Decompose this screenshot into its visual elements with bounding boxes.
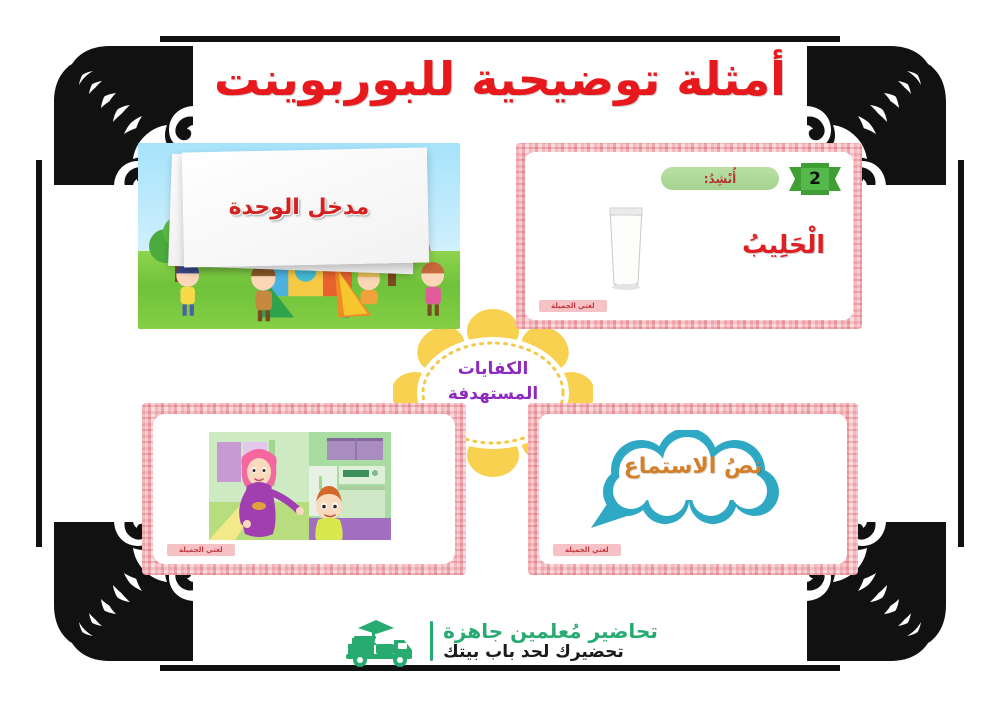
footer-text: تحاضير مُعلمين جاهزة تحضيرك لحد باب بيتك — [443, 620, 658, 663]
poster-page: أمثلة توضيحية للبوربوينت الكفايات المسته… — [0, 0, 1000, 707]
slide-body: مدخل الوحدة — [138, 143, 460, 329]
footer-logo: تحاضير مُعلمين جاهزة تحضيرك لحد باب بيتك — [0, 609, 1000, 673]
ribbon-number: 2 — [789, 169, 841, 189]
footer-divider — [430, 621, 433, 661]
child-icon — [244, 264, 283, 324]
lang-tag: لغتي الجميلة — [553, 544, 621, 556]
lang-tag: لغتي الجميلة — [167, 544, 235, 556]
cloud-speech-bubble-icon — [583, 430, 799, 538]
slide-card-unit-entry[interactable]: مدخل الوحدة — [138, 143, 460, 329]
slide-heading: مدخل الوحدة — [138, 195, 460, 220]
page-title: أمثلة توضيحية للبوربوينت — [0, 52, 1000, 106]
glass-of-milk-icon — [601, 200, 651, 290]
frame-line-right — [958, 160, 964, 547]
footer-line1: تحاضير مُعلمين جاهزة — [443, 620, 658, 643]
slide-word: الْحَلِيبُ — [742, 230, 825, 259]
frame-line-left — [36, 160, 42, 547]
delivery-truck-icon — [342, 614, 420, 668]
child-icon — [415, 262, 450, 318]
child-icon — [351, 266, 386, 314]
lang-tag: لغتي الجميلة — [539, 300, 607, 312]
footer-line2: تحضيرك لحد باب بيتك — [443, 643, 624, 663]
child-icon — [170, 262, 205, 318]
mother-and-boy-kitchen-illustration — [209, 432, 391, 540]
slide-body: نصُ الاستماع لغتي الجميلة — [539, 414, 847, 564]
slide-card-listening-text[interactable]: نصُ الاستماع لغتي الجميلة — [528, 403, 858, 575]
slide-card-kitchen[interactable]: لغتي الجميلة — [142, 403, 466, 575]
slide-body: 2 أُنْشِدُ: الْحَلِيبُ — [525, 152, 853, 320]
slide-body: لغتي الجميلة — [153, 414, 455, 564]
prompt-pill: أُنْشِدُ: — [661, 167, 779, 190]
frame-line-top — [160, 36, 840, 42]
slide-card-milk[interactable]: 2 أُنْشِدُ: الْحَلِيبُ — [516, 143, 862, 329]
ribbon-banner-icon: 2 — [789, 161, 841, 197]
